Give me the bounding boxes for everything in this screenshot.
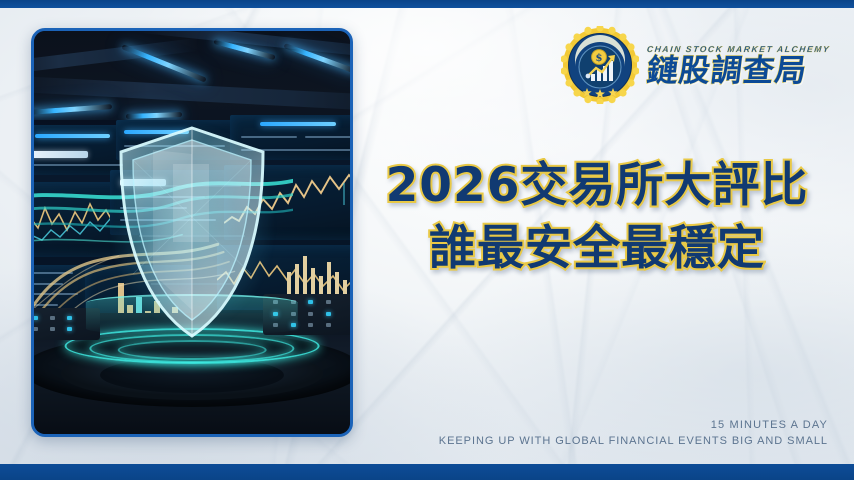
headline-line-1: 2026交易所大評比 bbox=[358, 158, 836, 213]
tagline-line-2: KEEPING UP WITH GLOBAL FINANCIAL EVENTS … bbox=[439, 435, 828, 447]
chain-stock-market-alchemy-badge-icon: $ bbox=[561, 26, 639, 104]
top-accent-band bbox=[0, 0, 854, 8]
hero-image-content bbox=[34, 31, 350, 434]
headline-line-2: 誰最安全最穩定 bbox=[358, 221, 836, 276]
brand-logo[interactable]: $ CHAIN STOCK MARKET ALCHEMY 鏈股調查局 bbox=[561, 26, 830, 104]
tagline: 15 MINUTES A DAY KEEPING UP WITH GLOBAL … bbox=[439, 419, 828, 447]
hero-image-panel bbox=[31, 28, 353, 437]
brand-wordmark: CHAIN STOCK MARKET ALCHEMY 鏈股調查局 bbox=[647, 42, 830, 88]
security-shield bbox=[113, 124, 271, 340]
page-title: 2026交易所大評比 誰最安全最穩定 bbox=[358, 158, 836, 277]
thumbnail-canvas: $ CHAIN STOCK MARKET ALCHEMY 鏈股調查局 2026交… bbox=[0, 0, 854, 480]
tagline-line-1: 15 MINUTES A DAY bbox=[439, 419, 828, 431]
svg-text:$: $ bbox=[595, 53, 602, 64]
bottom-accent-band bbox=[0, 464, 854, 480]
brand-chinese-name: 鏈股調查局 bbox=[645, 55, 832, 88]
